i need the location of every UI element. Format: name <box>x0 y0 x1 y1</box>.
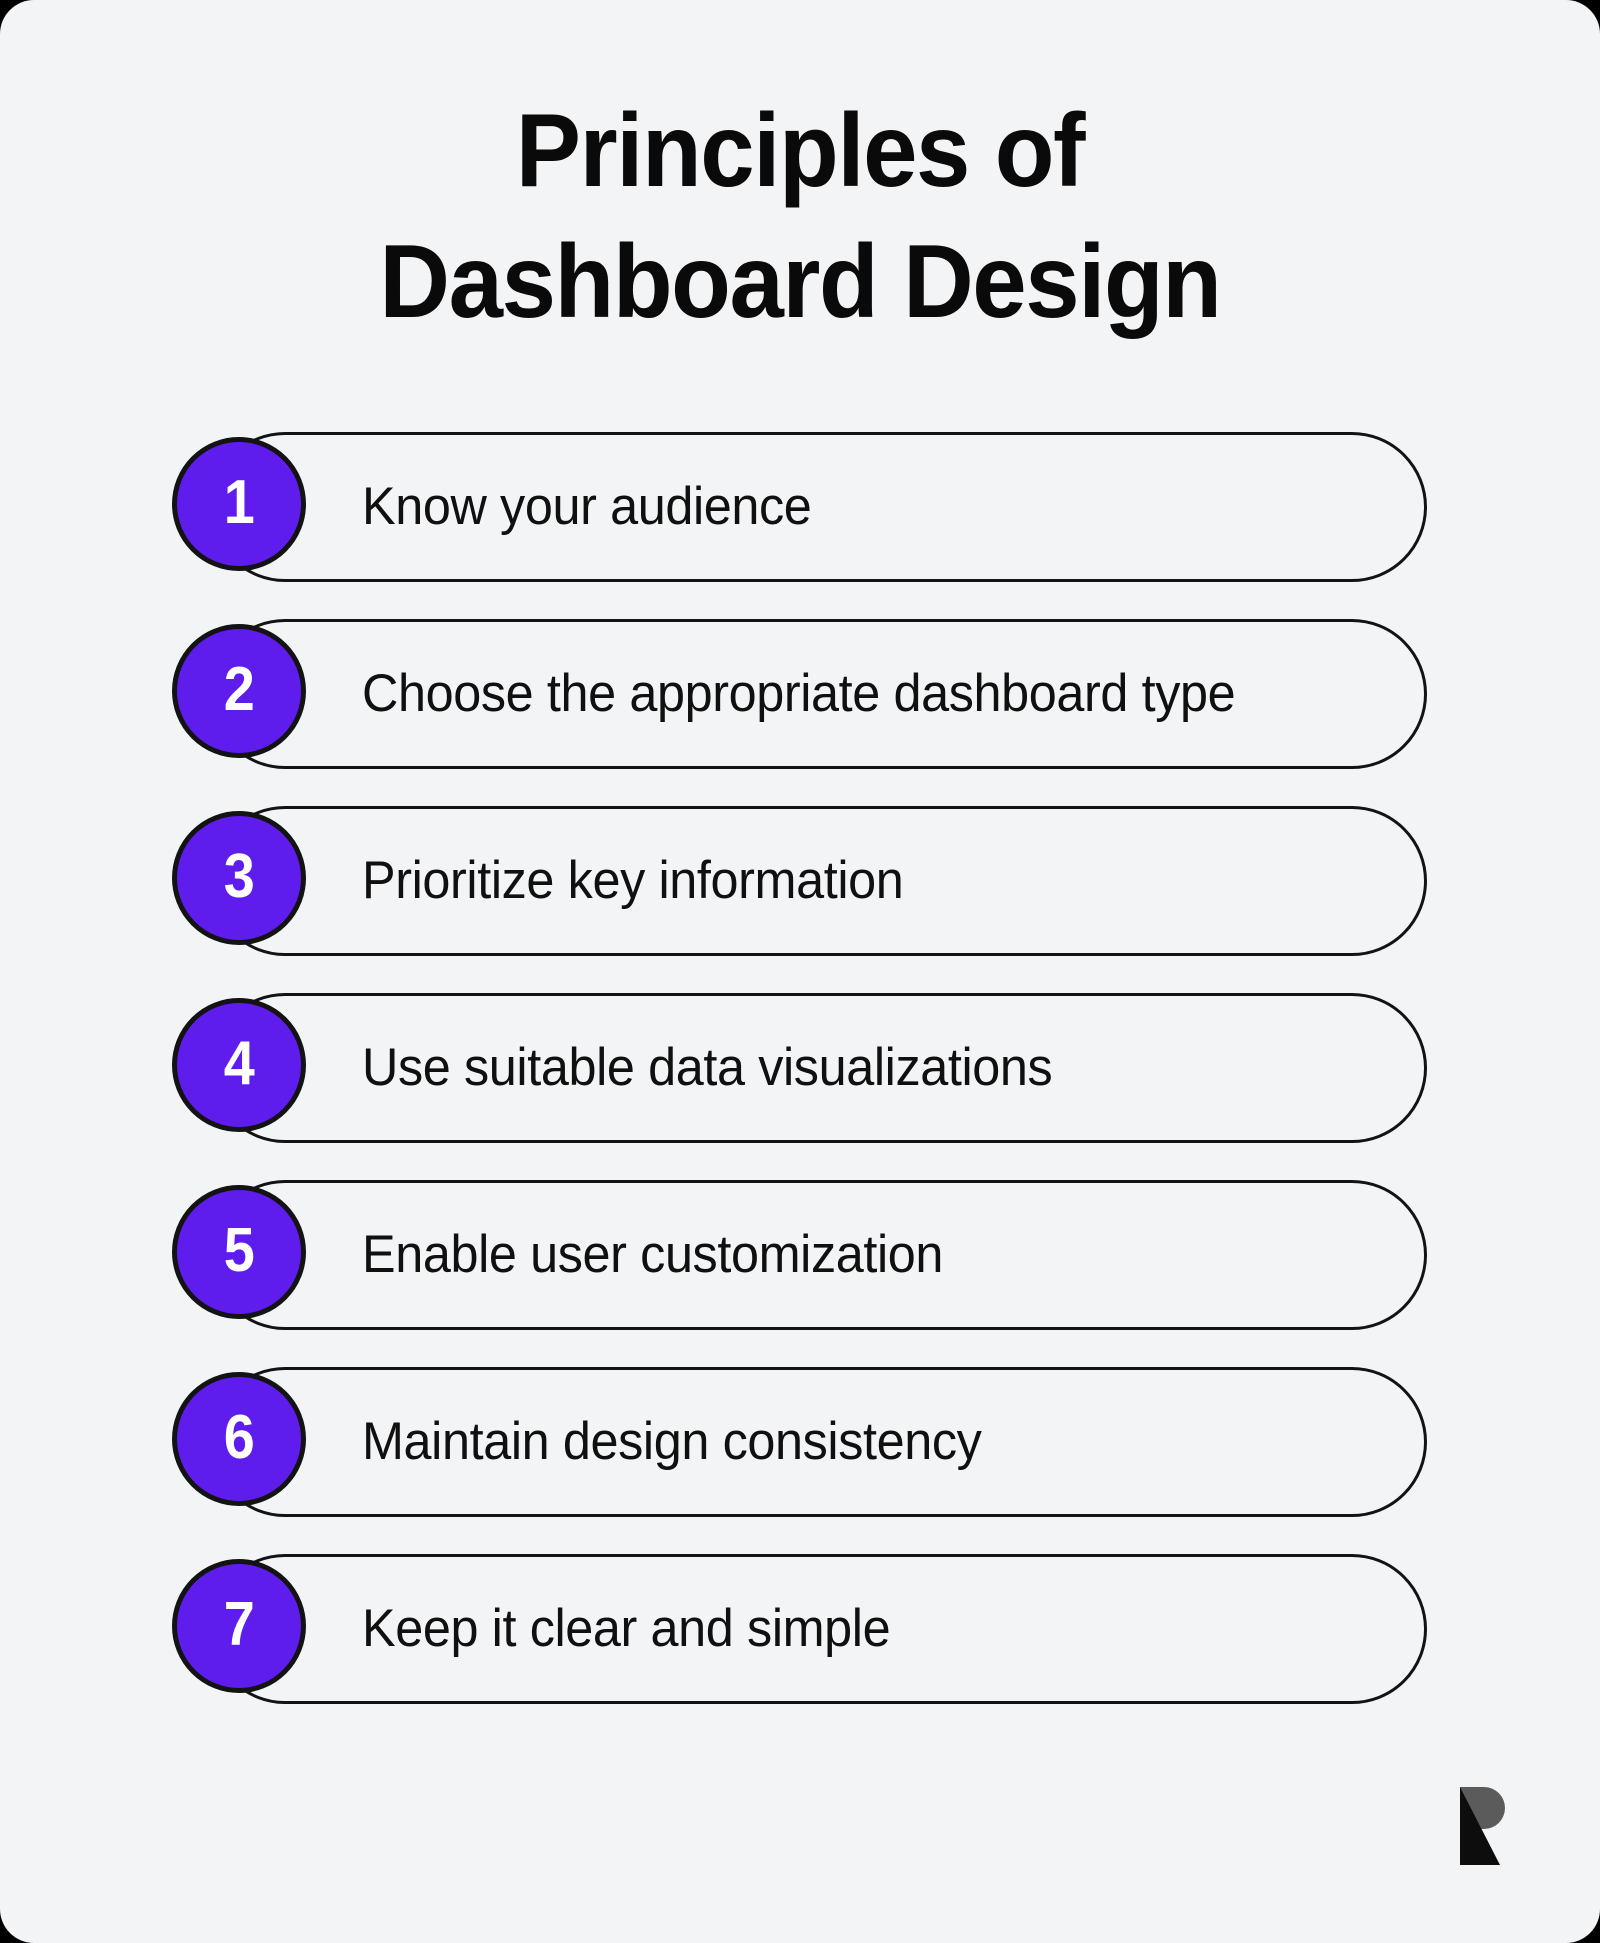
list-item-label: Use suitable data visualizations <box>362 993 1336 1143</box>
list-item-number-badge: 1 <box>172 437 306 571</box>
list-item-label: Keep it clear and simple <box>362 1554 1336 1704</box>
page-title: Principles of Dashboard Design <box>0 86 1600 348</box>
list-item-number: 1 <box>223 472 254 534</box>
list-item-label: Enable user customization <box>362 1180 1336 1330</box>
list-item-label: Choose the appropriate dashboard type <box>362 619 1336 769</box>
list-item-number-badge: 7 <box>172 1559 306 1693</box>
list-item-number: 7 <box>223 1594 254 1656</box>
list-item[interactable]: 1 Know your audience <box>172 432 1427 582</box>
page-title-line-1: Principles of <box>161 86 1439 217</box>
list-item-number-badge: 3 <box>172 811 306 945</box>
list-item[interactable]: 2 Choose the appropriate dashboard type <box>172 619 1427 769</box>
list-item[interactable]: 3 Prioritize key information <box>172 806 1427 956</box>
list-item[interactable]: 5 Enable user customization <box>172 1180 1427 1330</box>
list-item-number: 3 <box>223 846 254 908</box>
principles-list: 1 Know your audience 2 Choose the approp… <box>172 432 1427 1704</box>
list-item-label: Maintain design consistency <box>362 1367 1336 1517</box>
infographic-page: Principles of Dashboard Design 1 Know yo… <box>0 0 1600 1943</box>
page-title-line-2: Dashboard Design <box>161 217 1439 348</box>
list-item[interactable]: 4 Use suitable data visualizations <box>172 993 1427 1143</box>
list-item-number: 6 <box>223 1407 254 1469</box>
list-item-number-badge: 6 <box>172 1372 306 1506</box>
list-item-number: 5 <box>223 1220 254 1282</box>
list-item-number: 2 <box>223 659 254 721</box>
list-item-number-badge: 2 <box>172 624 306 758</box>
r-monogram-logo <box>1444 1787 1514 1865</box>
list-item-label: Know your audience <box>362 432 1336 582</box>
list-item-number: 4 <box>223 1033 254 1095</box>
list-item-label: Prioritize key information <box>362 806 1336 956</box>
list-item-number-badge: 5 <box>172 1185 306 1319</box>
list-item-number-badge: 4 <box>172 998 306 1132</box>
list-item[interactable]: 6 Maintain design consistency <box>172 1367 1427 1517</box>
list-item[interactable]: 7 Keep it clear and simple <box>172 1554 1427 1704</box>
